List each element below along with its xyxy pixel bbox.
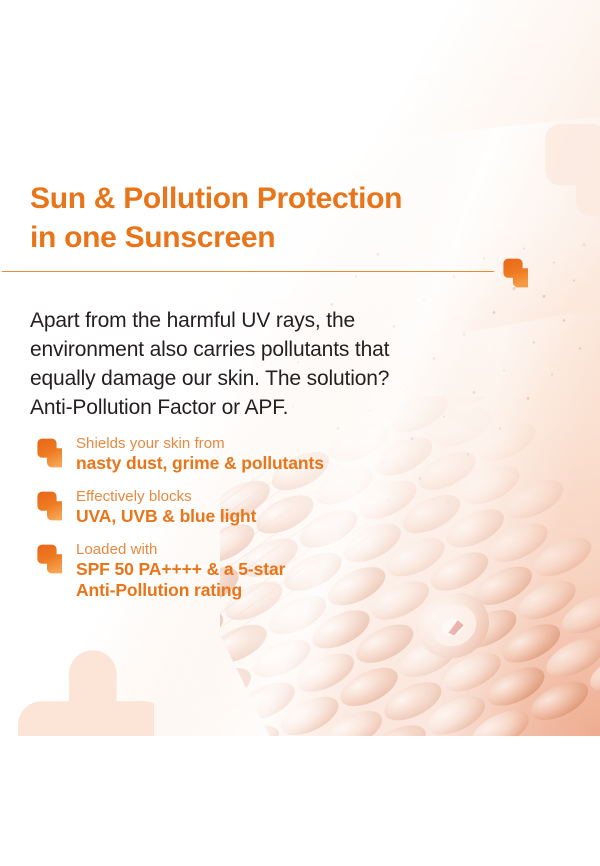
intro-paragraph: Apart from the harmful UV rays, the envi… — [30, 306, 485, 422]
list-item: Effectively blocks UVA, UVB & blue light — [30, 487, 480, 527]
intro-line-1: Apart from the harmful UV rays, the — [30, 306, 485, 335]
benefit-list: Shields your skin from nasty dust, grime… — [30, 434, 480, 601]
page-title-line-2: in one Sunscreen — [30, 218, 500, 257]
page-title: Sun & Pollution Protection in one Sunscr… — [30, 179, 500, 257]
content-layer: Sun & Pollution Protection in one Sunscr… — [0, 0, 600, 736]
list-item: Loaded with SPF 50 PA++++ & a 5-star Ant… — [30, 540, 480, 601]
poster-canvas: Sun & Pollution Protection in one Sunscr… — [0, 0, 600, 866]
clover-cross-icon — [32, 544, 62, 574]
divider-line — [2, 271, 494, 272]
benefit-main-line-1: UVA, UVB & blue light — [76, 506, 480, 527]
benefit-lead-text: Shields your skin from — [76, 434, 480, 453]
clover-cross-icon — [498, 258, 528, 288]
benefit-main-text: SPF 50 PA++++ & a 5-star Anti-Pollution … — [76, 559, 480, 601]
intro-line-2: environment also carries pollutants that — [30, 335, 485, 364]
list-item: Shields your skin from nasty dust, grime… — [30, 434, 480, 474]
page-title-line-1: Sun & Pollution Protection — [30, 179, 500, 218]
clover-cross-icon — [32, 491, 62, 521]
benefit-lead-text: Effectively blocks — [76, 487, 480, 506]
benefit-main-text: nasty dust, grime & pollutants — [76, 453, 480, 474]
benefit-main-line-1: nasty dust, grime & pollutants — [76, 453, 480, 474]
intro-line-3: equally damage our skin. The solution? — [30, 364, 485, 393]
divider — [2, 262, 542, 296]
benefit-main-text: UVA, UVB & blue light — [76, 506, 480, 527]
benefit-main-line-1: SPF 50 PA++++ & a 5-star — [76, 559, 480, 580]
artwork-panel: Sun & Pollution Protection in one Sunscr… — [0, 0, 600, 736]
benefit-main-line-2: Anti-Pollution rating — [76, 580, 480, 601]
intro-line-4: Anti-Pollution Factor or APF. — [30, 393, 485, 422]
benefit-lead-text: Loaded with — [76, 540, 480, 559]
clover-cross-icon — [32, 438, 62, 468]
